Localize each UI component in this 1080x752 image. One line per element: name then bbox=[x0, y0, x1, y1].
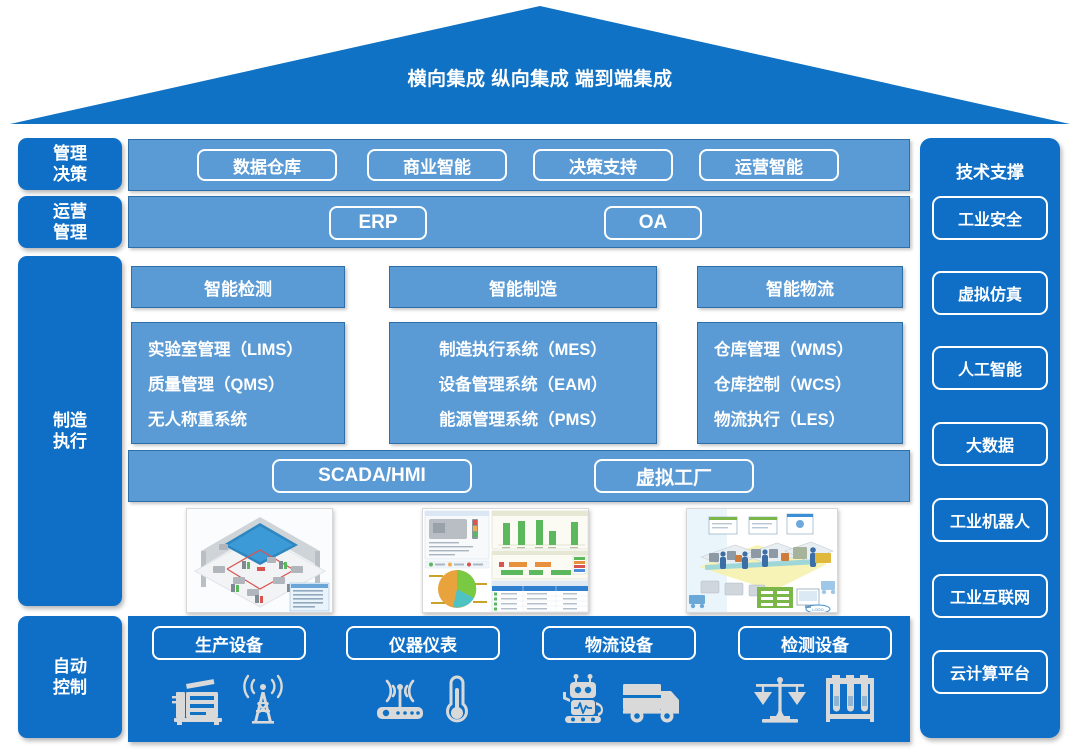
left-label-2: 制造 执行 bbox=[53, 410, 87, 453]
chip-scada-hmi[interactable]: SCADA/HMI bbox=[272, 459, 472, 493]
left-label-0-line2: 决策 bbox=[53, 165, 87, 184]
left-label-0: 管理 决策 bbox=[53, 143, 87, 186]
chip-instruments-meters[interactable]: 仪器仪表 bbox=[346, 626, 500, 660]
mes-dashboard-screenshot-icon bbox=[423, 509, 589, 613]
chip-production-equipment[interactable]: 生产设备 bbox=[152, 626, 306, 660]
left-label-3: 自动 控制 bbox=[53, 656, 87, 699]
tech-chip-virtual-simulation[interactable]: 虚拟仿真 bbox=[932, 271, 1048, 315]
left-label-2-line2: 执行 bbox=[53, 432, 87, 451]
wifi-router-icon bbox=[373, 674, 427, 726]
production-line-logistics-illustration-icon: LOGO bbox=[687, 509, 838, 613]
col-body-intelligent-logistics: 仓库管理（WMS） 仓库控制（WCS） 物流执行（LES） bbox=[697, 322, 903, 444]
left-label-0-line1: 管理 bbox=[53, 144, 87, 163]
radio-tower-icon bbox=[240, 674, 286, 726]
sidebar-item-operation-management[interactable]: 运营 管理 bbox=[18, 196, 122, 248]
sidebar-item-management-decision[interactable]: 管理 决策 bbox=[18, 138, 122, 190]
tech-chip-big-data[interactable]: 大数据 bbox=[932, 422, 1048, 466]
left-label-3-line1: 自动 bbox=[53, 657, 87, 676]
list-item: 无人称重系统 bbox=[148, 406, 344, 430]
tech-chip-industrial-robot[interactable]: 工业机器人 bbox=[932, 498, 1048, 542]
chip-oa[interactable]: OA bbox=[604, 206, 702, 240]
chip-business-intelligence[interactable]: 商业智能 bbox=[367, 149, 507, 181]
thermometer-icon bbox=[441, 674, 473, 726]
list-item: 设备管理系统（EAM） bbox=[439, 371, 608, 395]
chip-decision-support[interactable]: 决策支持 bbox=[533, 149, 673, 181]
sidebar-item-automation-control[interactable]: 自动 控制 bbox=[18, 616, 122, 738]
left-label-1-line2: 管理 bbox=[53, 223, 87, 242]
list-item: 实验室管理（LIMS） bbox=[148, 336, 344, 360]
col-head-intelligent-manufacturing[interactable]: 智能制造 bbox=[389, 266, 657, 308]
chip-inspection-equipment[interactable]: 检测设备 bbox=[738, 626, 892, 660]
chip-data-warehouse[interactable]: 数据仓库 bbox=[197, 149, 337, 181]
tech-chip-industrial-internet[interactable]: 工业互联网 bbox=[932, 574, 1048, 618]
decision-band: 数据仓库 商业智能 决策支持 运营智能 bbox=[128, 139, 910, 191]
list-item: 仓库管理（WMS） bbox=[714, 336, 902, 360]
col-head-intelligent-logistics[interactable]: 智能物流 bbox=[697, 266, 903, 308]
right-sidebar-title: 技术支撑 bbox=[920, 158, 1060, 183]
chip-operation-intelligence[interactable]: 运营智能 bbox=[699, 149, 839, 181]
operation-band: ERP OA bbox=[128, 196, 910, 248]
col-head-intelligent-inspection[interactable]: 智能检测 bbox=[131, 266, 345, 308]
icon-group-inspection-equipment bbox=[738, 670, 892, 730]
list-item: 质量管理（QMS） bbox=[148, 371, 344, 395]
list-item: 能源管理系统（PMS） bbox=[439, 406, 607, 430]
col-body-intelligent-inspection: 实验室管理（LIMS） 质量管理（QMS） 无人称重系统 bbox=[131, 322, 345, 444]
list-item: 制造执行系统（MES） bbox=[439, 336, 607, 360]
left-label-1-line1: 运营 bbox=[53, 202, 87, 221]
thumbnail-mes-dashboard[interactable] bbox=[422, 508, 589, 613]
left-label-3-line2: 控制 bbox=[53, 678, 87, 697]
icon-group-instruments-meters bbox=[346, 670, 500, 730]
cnc-machine-icon bbox=[172, 674, 226, 726]
left-label-2-line1: 制造 bbox=[53, 411, 87, 430]
balance-scale-icon bbox=[752, 674, 808, 726]
thumbnail-production-line-logistics[interactable]: LOGO bbox=[686, 508, 838, 613]
truck-icon bbox=[623, 674, 681, 726]
sidebar-item-manufacturing-execution[interactable]: 制造 执行 bbox=[18, 256, 122, 606]
test-tube-rack-icon bbox=[822, 674, 878, 726]
tech-chip-industrial-security[interactable]: 工业安全 bbox=[932, 196, 1048, 240]
right-sidebar: 技术支撑 工业安全 虚拟仿真 人工智能 大数据 工业机器人 工业互联网 云计算平… bbox=[920, 138, 1060, 738]
factory-floor-layout-illustration-icon bbox=[187, 509, 333, 613]
scada-band: SCADA/HMI 虚拟工厂 bbox=[128, 450, 910, 502]
chip-virtual-factory[interactable]: 虚拟工厂 bbox=[594, 459, 754, 493]
list-item: 仓库控制（WCS） bbox=[714, 371, 902, 395]
icon-group-logistics-equipment bbox=[542, 670, 696, 730]
svg-text:LOGO: LOGO bbox=[812, 607, 824, 612]
tech-chip-artificial-intelligence[interactable]: 人工智能 bbox=[932, 346, 1048, 390]
col-body-intelligent-manufacturing: 制造执行系统（MES） 设备管理系统（EAM） 能源管理系统（PMS） bbox=[389, 322, 657, 444]
chip-erp[interactable]: ERP bbox=[329, 206, 427, 240]
robot-icon bbox=[557, 674, 609, 726]
left-label-1: 运营 管理 bbox=[53, 201, 87, 244]
roof-banner: 横向集成 纵向集成 端到端集成 bbox=[0, 4, 1080, 130]
tech-chip-cloud-platform[interactable]: 云计算平台 bbox=[932, 650, 1048, 694]
chip-logistics-equipment[interactable]: 物流设备 bbox=[542, 626, 696, 660]
icon-group-production-equipment bbox=[152, 670, 306, 730]
list-item: 物流执行（LES） bbox=[714, 406, 902, 430]
automation-band: 生产设备 bbox=[128, 616, 910, 742]
thumbnail-factory-floor-layout[interactable] bbox=[186, 508, 333, 613]
roof-label: 横向集成 纵向集成 端到端集成 bbox=[0, 64, 1080, 91]
